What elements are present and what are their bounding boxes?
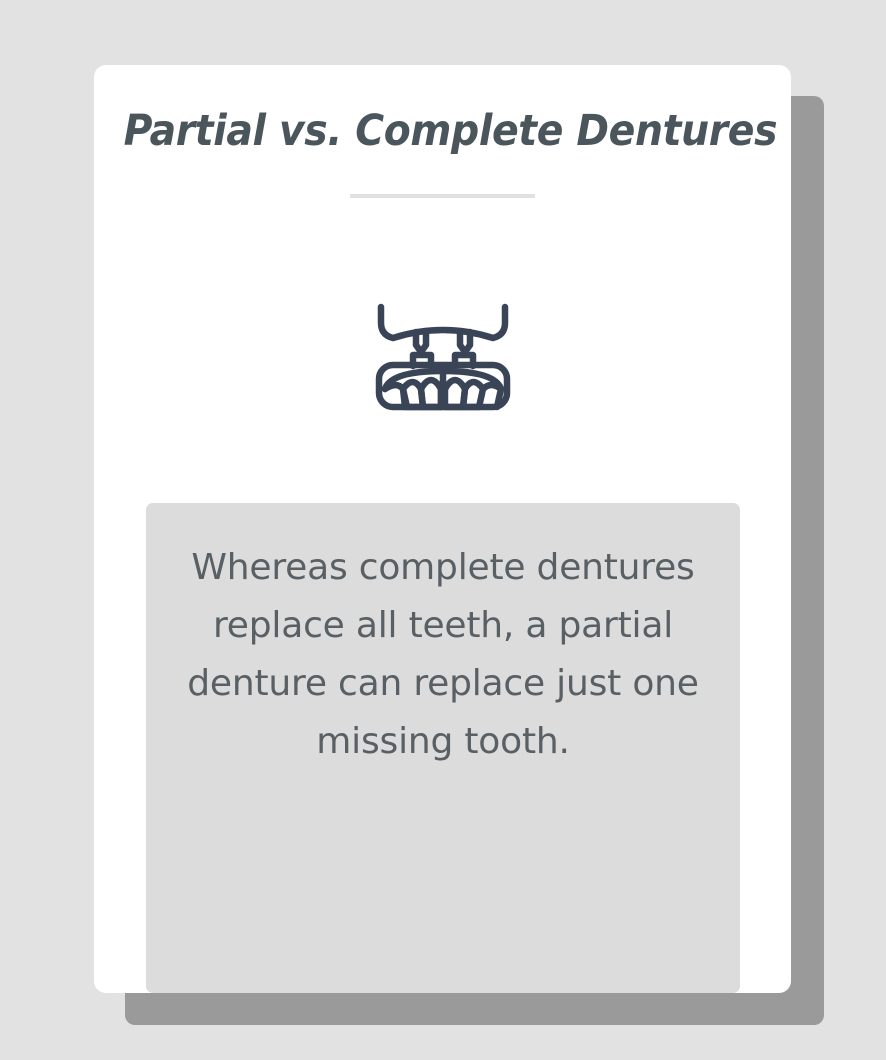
page-title: Partial vs. Complete Dentures — [124, 109, 762, 154]
partial-denture-icon — [94, 290, 791, 415]
info-card: Partial vs. Complete Dentures — [94, 65, 791, 993]
title-divider — [350, 194, 535, 198]
description-text: Whereas complete dentures replace all te… — [168, 539, 718, 771]
description-panel: Whereas complete dentures replace all te… — [146, 503, 740, 993]
slide-canvas: Partial vs. Complete Dentures — [0, 0, 886, 1060]
